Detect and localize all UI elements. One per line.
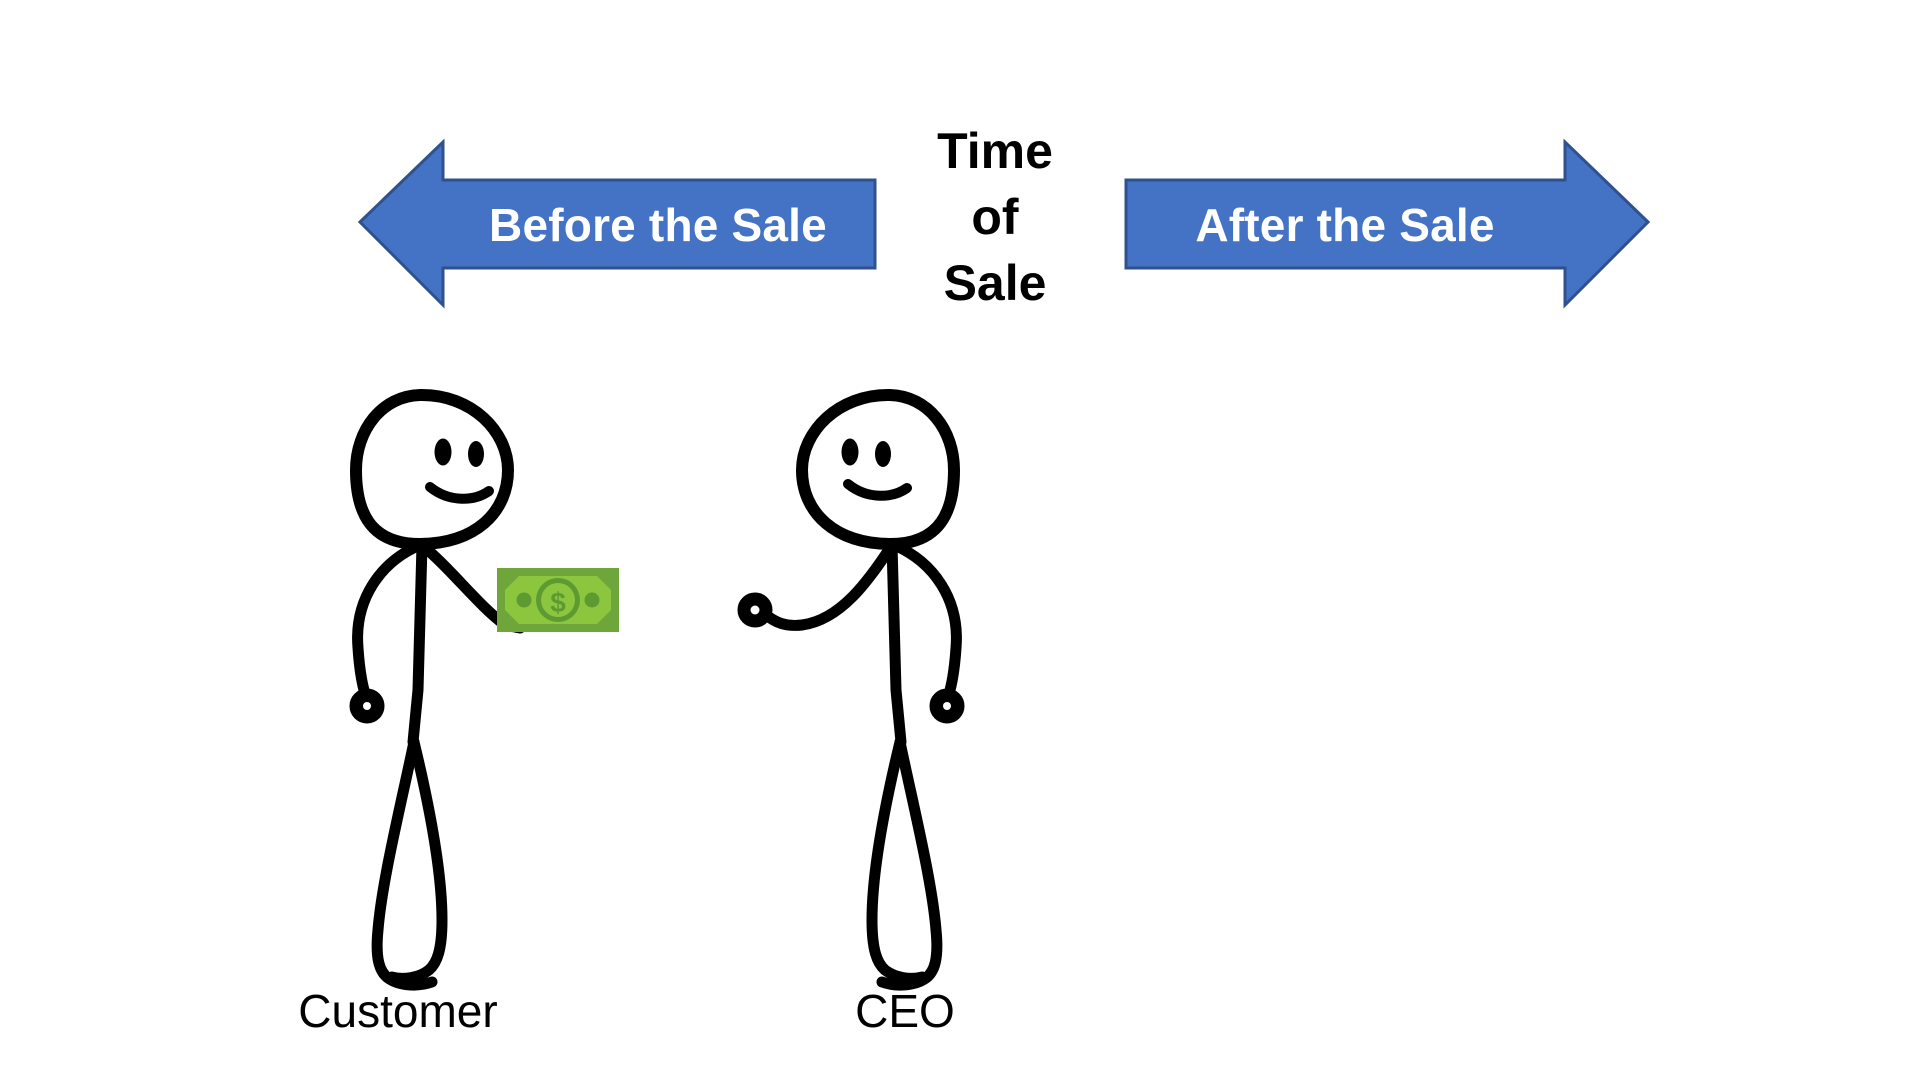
ceo-label: CEO	[780, 988, 1030, 1034]
ceo-arm-hanging	[894, 545, 956, 698]
dollar-sign-glyph: $	[550, 587, 566, 618]
ceo-figure	[740, 395, 962, 985]
ceo-spine	[892, 545, 901, 742]
customer-label: Customer	[248, 988, 548, 1034]
ceo-leg-left	[872, 742, 922, 978]
customer-figure	[352, 395, 520, 985]
time-of-sale-caption: Time of Sale	[885, 118, 1105, 316]
customer-fist-left	[352, 691, 382, 721]
ceo-fist-extended	[740, 595, 770, 625]
customer-leg-right	[392, 742, 442, 978]
dollar-bill-icon: $	[497, 568, 619, 632]
ceo-fist-right	[932, 691, 962, 721]
customer-spine	[413, 545, 422, 742]
ceo-head	[802, 395, 954, 544]
arrow-right-label: After the Sale	[1130, 202, 1560, 248]
customer-head	[356, 395, 508, 544]
ceo-arm-extended	[766, 545, 892, 625]
arrow-left-label: Before the Sale	[443, 202, 873, 248]
customer-arm-hanging	[358, 545, 420, 698]
slide-canvas: $	[0, 0, 1920, 1080]
